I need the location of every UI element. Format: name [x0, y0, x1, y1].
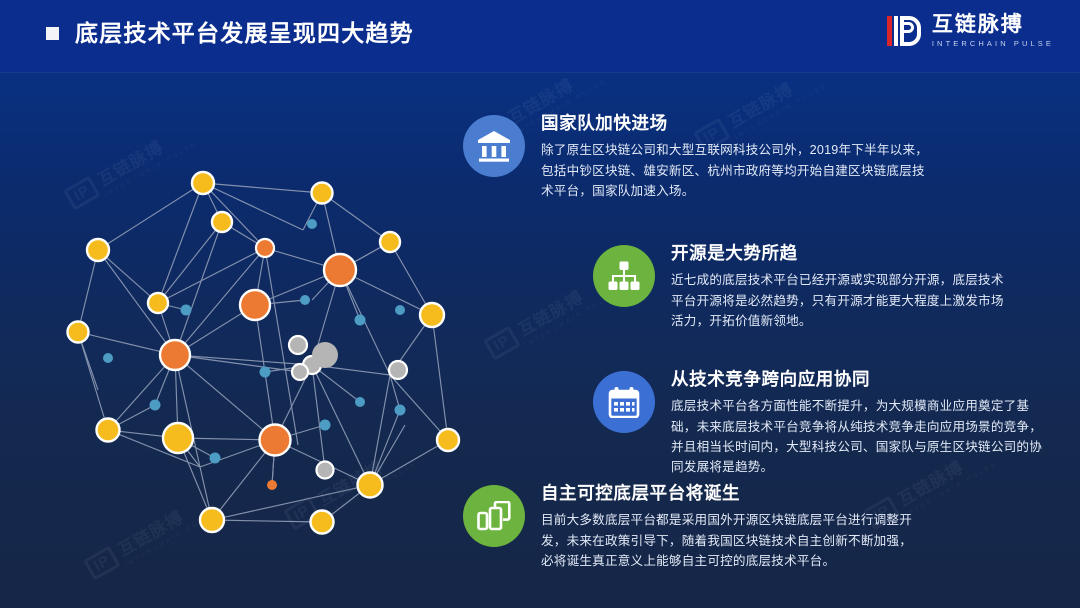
- page-title: 底层技术平台发展呈现四大趋势: [46, 22, 414, 45]
- logo-name-cn: 互链脉搏: [932, 14, 1054, 36]
- calendar-icon: [593, 371, 655, 433]
- trend-item-autonomous-platform[interactable]: 自主可控底层平台将诞生 目前大多数底层平台都是采用国外开源区块链底层平台进行调整…: [463, 482, 918, 571]
- trend-description: 除了原生区块链公司和大型互联网科技公司外，2019年下半年以来，包括中钞区块链、…: [541, 140, 933, 201]
- trend-title: 国家队加快进场: [541, 114, 933, 133]
- interchain-pulse-ip-mark-icon: [887, 14, 923, 48]
- watermark-ip-icon: IP: [483, 326, 521, 361]
- trend-title: 自主可控底层平台将诞生: [541, 484, 918, 503]
- square-bullet-icon: [46, 27, 59, 40]
- trend-item-application-synergy[interactable]: 从技术竞争跨向应用协同 底层技术平台各方面性能不断提升，为大规模商业应用奠定了基…: [593, 368, 1045, 478]
- trend-content: 开源是大势所趋 近七成的底层技术平台已经开源或实现部分开源，底层技术平台开源将是…: [671, 242, 1013, 331]
- network-nodes: [68, 172, 460, 534]
- watermark-text-cn: 互链脉搏: [515, 287, 587, 339]
- header-divider: [0, 72, 1080, 73]
- devices-glyph: [477, 501, 511, 531]
- brand-logo: 互链脉搏 INTERCHAIN PULSE: [887, 14, 1054, 48]
- network-graph-svg: [60, 140, 480, 570]
- multi-device-icon: [463, 485, 525, 547]
- logo-name-en: INTERCHAIN PULSE: [932, 39, 1054, 48]
- page-title-text: 底层技术平台发展呈现四大趋势: [75, 22, 414, 45]
- blockchain-network-illustration: [60, 140, 480, 570]
- bank-glyph: [477, 130, 511, 162]
- trend-item-national-team[interactable]: 国家队加快进场 除了原生区块链公司和大型互联网科技公司外，2019年下半年以来，…: [463, 112, 933, 201]
- trend-title: 从技术竞争跨向应用协同: [671, 370, 1045, 389]
- trend-description: 近七成的底层技术平台已经开源或实现部分开源，底层技术平台开源将是必然趋势，只有开…: [671, 270, 1013, 331]
- slide-root: IP互链脉搏INTERCHAIN PULSE IP互链脉搏INTERCHAIN …: [0, 0, 1080, 608]
- trend-content: 从技术竞争跨向应用协同 底层技术平台各方面性能不断提升，为大规模商业应用奠定了基…: [671, 368, 1045, 478]
- sitemap-glyph: [608, 261, 640, 291]
- trend-description: 底层技术平台各方面性能不断提升，为大规模商业应用奠定了基础，未来底层技术平台竞争…: [671, 396, 1045, 478]
- trend-description: 目前大多数底层平台都是采用国外开源区块链底层平台进行调整开发，未来在政策引导下，…: [541, 510, 918, 571]
- bank-institution-icon: [463, 115, 525, 177]
- sitemap-hierarchy-icon: [593, 245, 655, 307]
- trend-title: 开源是大势所趋: [671, 244, 1013, 263]
- trend-content: 自主可控底层平台将诞生 目前大多数底层平台都是采用国外开源区块链底层平台进行调整…: [541, 482, 918, 571]
- trend-item-open-source[interactable]: 开源是大势所趋 近七成的底层技术平台已经开源或实现部分开源，底层技术平台开源将是…: [593, 242, 1013, 331]
- trend-content: 国家队加快进场 除了原生区块链公司和大型互联网科技公司外，2019年下半年以来，…: [541, 112, 933, 201]
- calendar-glyph: [608, 386, 640, 418]
